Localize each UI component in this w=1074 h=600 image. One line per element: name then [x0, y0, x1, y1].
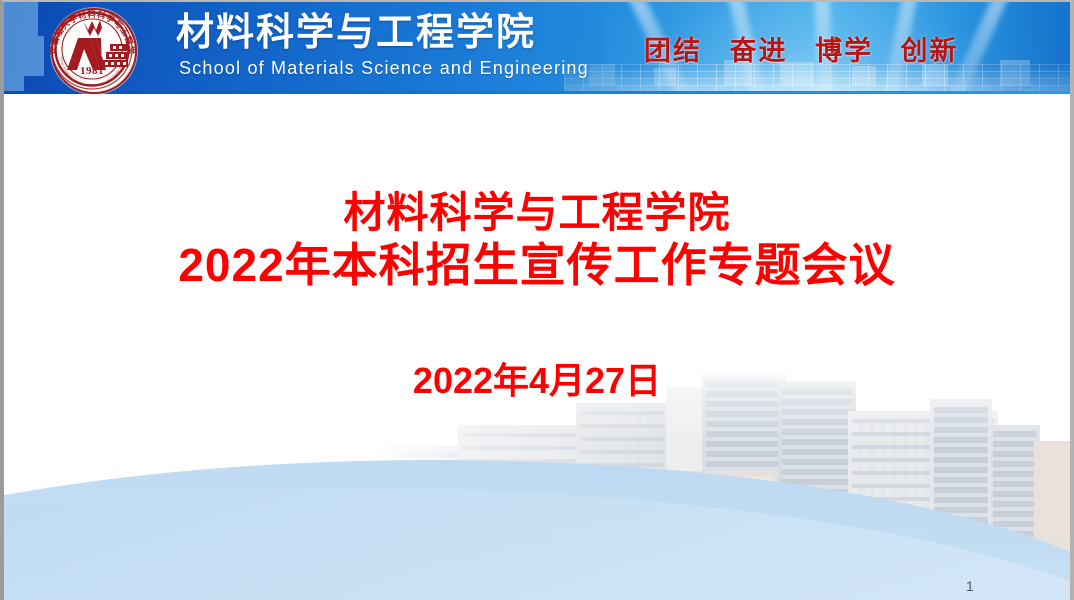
slide-title-line-1: 材料科学与工程学院: [4, 187, 1070, 239]
motto-word-1: 团结: [644, 36, 702, 66]
slide-title-block: 材料科学与工程学院 2022年本科招生宣传工作专题会议: [4, 187, 1070, 291]
motto-word-2: 奋进: [730, 36, 788, 66]
school-seal-logo[interactable]: 西安石油大学材料科学与工程学院 School of Materials Scie…: [22, 8, 170, 90]
slide-header-banner: 西安石油大学材料科学与工程学院 School of Materials Scie…: [4, 2, 1070, 94]
motto-word-3: 博学: [815, 36, 873, 66]
seal-founding-year: 1981: [51, 65, 133, 77]
slide-page-number: 1: [966, 578, 974, 594]
motto-word-4: 创新: [901, 36, 959, 66]
presentation-slide: 西安石油大学材料科学与工程学院 School of Materials Scie…: [0, 0, 1074, 600]
slide-date: 2022年4月27日: [4, 352, 1070, 404]
grid-fade-overlay: [564, 64, 1070, 94]
header-bottom-rule: [4, 91, 1070, 94]
school-name-chinese: 材料科学与工程学院: [176, 11, 536, 55]
slide-title-line-2: 2022年本科招生宣传工作专题会议: [4, 239, 1070, 291]
seal-artwork-icon: 西安石油大学材料科学与工程学院 School of Materials Scie…: [22, 8, 170, 90]
school-name-english: School of Materials Science and Engineer…: [179, 57, 589, 79]
school-motto: 团结 奋进 博学 创新: [644, 29, 959, 68]
